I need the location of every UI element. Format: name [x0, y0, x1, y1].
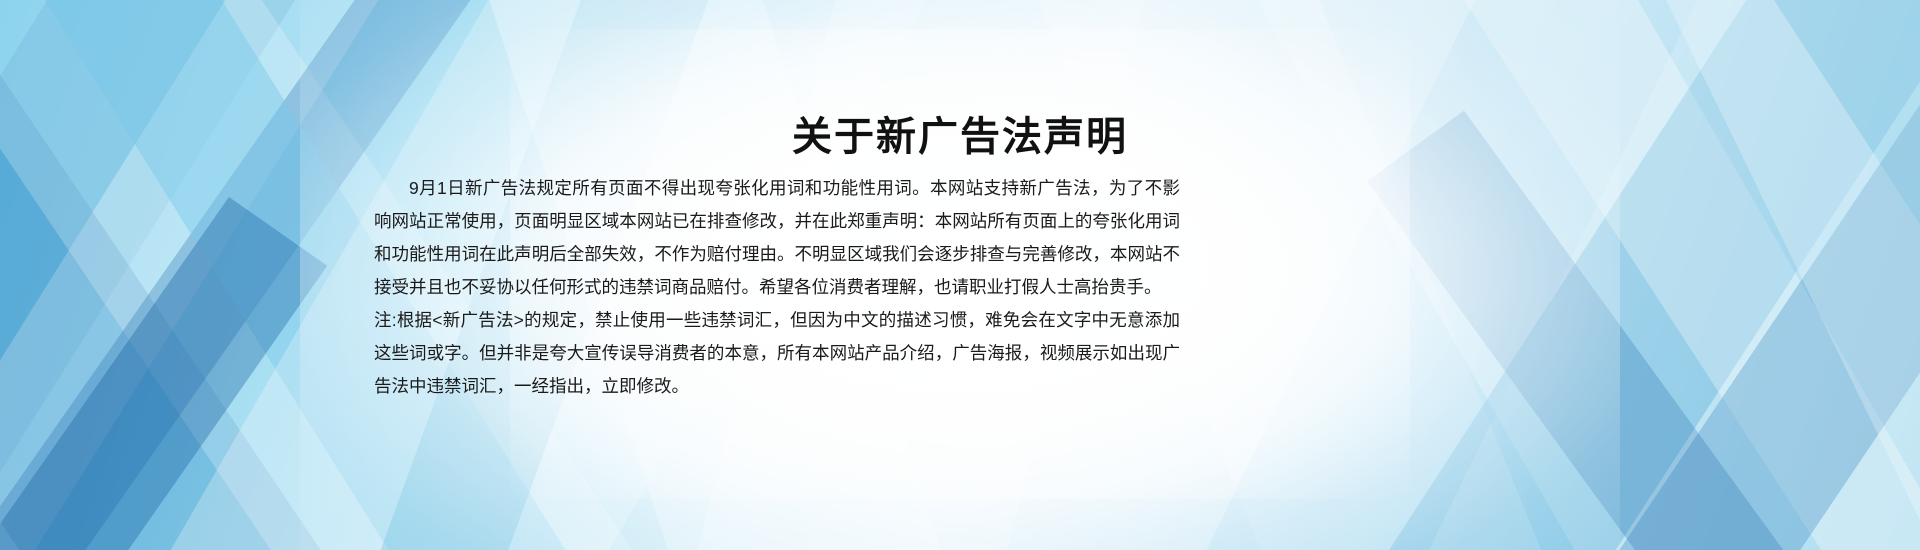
page-title: 关于新广告法声明 — [0, 113, 1920, 161]
advertising-law-statement-banner: 关于新广告法声明 9月1日新广告法规定所有页面不得出现夸张化用词和功能性用词。本… — [0, 0, 1920, 550]
statement-paragraph-1: 9月1日新广告法规定所有页面不得出现夸张化用词和功能性用词。本网站支持新广告法，… — [374, 172, 1180, 304]
statement-paragraph-2: 注:根据<新广告法>的规定，禁止使用一些违禁词汇，但因为中文的描述习惯，难免会在… — [374, 304, 1180, 403]
statement-body: 9月1日新广告法规定所有页面不得出现夸张化用词和功能性用词。本网站支持新广告法，… — [374, 172, 1180, 403]
statement-content: 关于新广告法声明 9月1日新广告法规定所有页面不得出现夸张化用词和功能性用词。本… — [0, 0, 1920, 550]
